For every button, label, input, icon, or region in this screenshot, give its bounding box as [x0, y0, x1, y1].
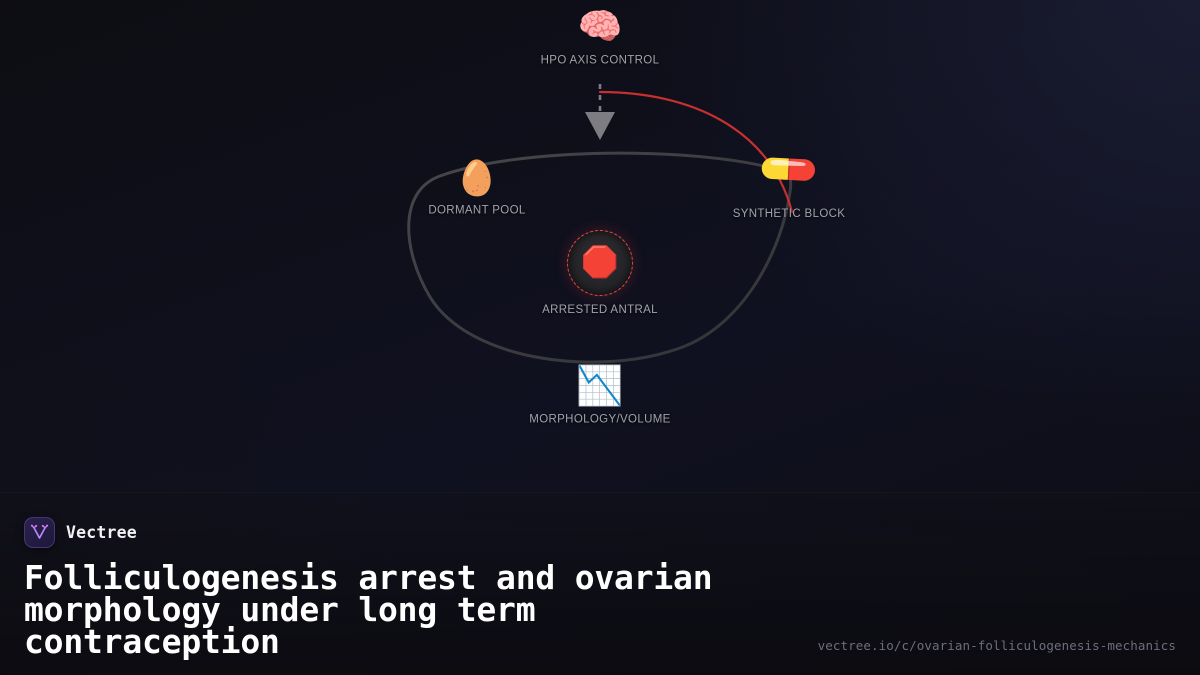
source-url: vectree.io/c/ovarian-folliculogenesis-me… — [818, 638, 1176, 653]
page-title: Folliculogenesis arrest and ovarian morp… — [24, 562, 834, 658]
concept-graph: 🧠 HPO AXIS CONTROL 🥚 DORMANT POOL 💊 SYNT… — [0, 0, 1200, 492]
node-label: MORPHOLOGY/VOLUME — [529, 414, 670, 426]
brand: Vectree — [24, 517, 1176, 548]
node-synthetic-block[interactable]: 💊 SYNTHETIC BLOCK — [674, 150, 904, 220]
stop-sign-icon: 🛑 — [581, 248, 618, 278]
node-dormant-pool[interactable]: 🥚 DORMANT POOL — [362, 162, 592, 217]
chart-down-icon: 📉 — [576, 367, 623, 405]
node-label: HPO AXIS CONTROL — [541, 55, 660, 67]
node-label: ARRESTED ANTRAL — [542, 304, 658, 316]
edge-hpo-arrowhead — [585, 112, 615, 140]
node-label: SYNTHETIC BLOCK — [733, 208, 846, 220]
card-footer: Vectree Folliculogenesis arrest and ovar… — [0, 492, 1200, 675]
vectree-logo-icon — [24, 517, 55, 548]
brand-name: Vectree — [66, 523, 137, 542]
brain-icon: 🧠 — [578, 10, 623, 46]
alert-ring: 🛑 — [567, 230, 633, 296]
node-label: DORMANT POOL — [428, 205, 525, 217]
share-card: 🧠 HPO AXIS CONTROL 🥚 DORMANT POOL 💊 SYNT… — [0, 0, 1200, 675]
node-morphology-volume[interactable]: 📉 MORPHOLOGY/VOLUME — [485, 367, 715, 426]
node-hpo-axis-control[interactable]: 🧠 HPO AXIS CONTROL — [485, 10, 715, 67]
egg-icon: 🥚 — [456, 162, 498, 196]
node-arrested-antral[interactable]: 🛑 ARRESTED ANTRAL — [485, 230, 715, 316]
